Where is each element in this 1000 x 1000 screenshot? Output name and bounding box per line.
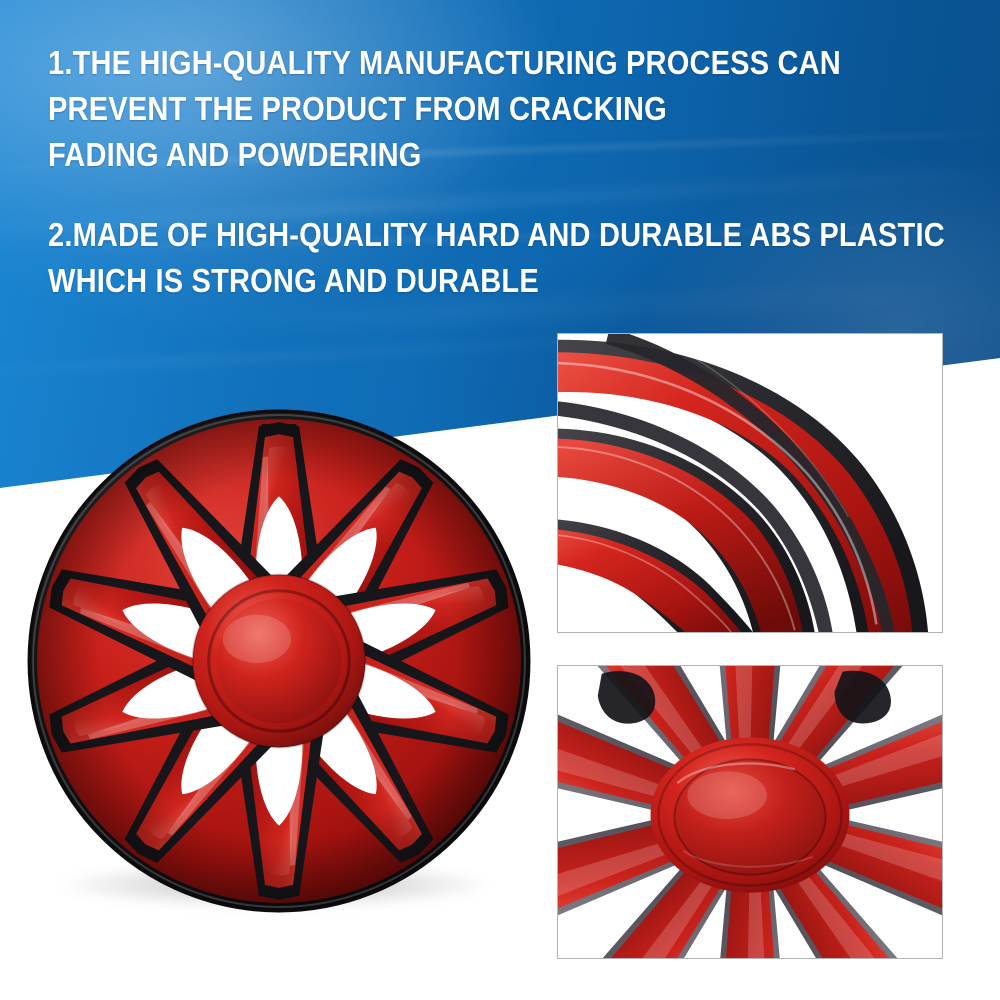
feature-2-line-2: WHICH IS STRONG AND DURABLE	[48, 258, 840, 304]
product-closeup-hub-panel	[557, 665, 943, 959]
feature-1-line-2: PREVENT THE PRODUCT FROM CRACKING	[48, 86, 840, 132]
feature-copy-block: 1.THE HIGH-QUALITY MANUFACTURING PROCESS…	[48, 40, 948, 304]
feature-paragraph-2: 2.MADE OF HIGH-QUALITY HARD AND DURABLE …	[48, 212, 948, 304]
feature-2-line-1: 2.MADE OF HIGH-QUALITY HARD AND DURABLE …	[48, 212, 840, 258]
hero-product-image	[18, 400, 540, 922]
product-feature-banner: 1.THE HIGH-QUALITY MANUFACTURING PROCESS…	[0, 0, 1000, 1000]
feature-1-line-3: FADING AND POWDERING	[48, 132, 840, 178]
feature-1-line-1: 1.THE HIGH-QUALITY MANUFACTURING PROCESS…	[48, 40, 840, 86]
feature-paragraph-1: 1.THE HIGH-QUALITY MANUFACTURING PROCESS…	[48, 40, 948, 178]
product-closeup-rim-panel	[557, 333, 943, 633]
